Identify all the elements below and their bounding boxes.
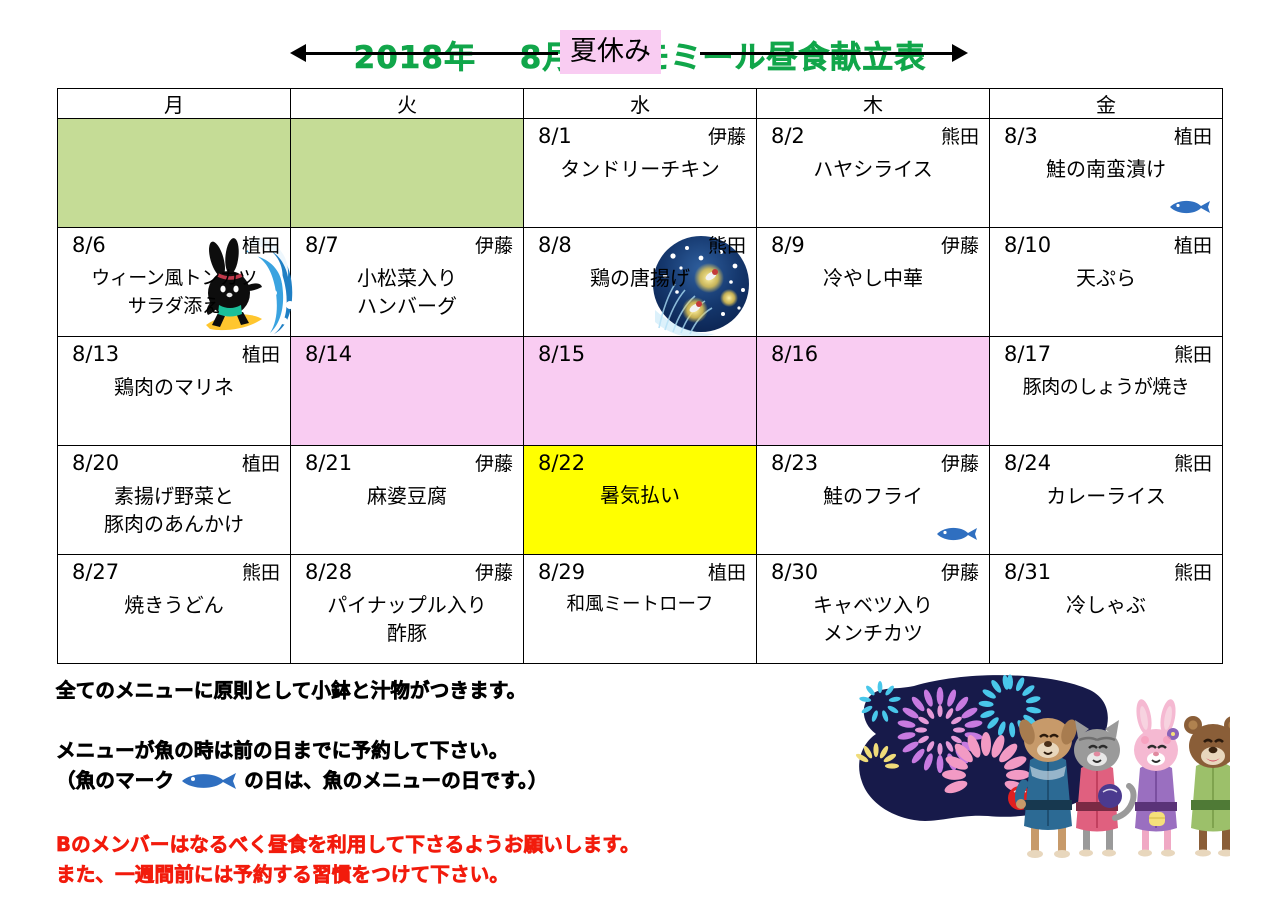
cell-date: 8/14 [305,341,352,367]
menu-cell-8-6: 8/6 植田 ウィーン風トンカツ サラダ添え [58,228,290,336]
menu-cell-8-2: 8/2 熊田 ハヤシライス [757,119,989,227]
calendar-cell: 8/8 熊田 鶏の唐揚げ [524,228,757,337]
note-red-line-1: Bのメンバーはなるべく昼食を利用して下さるようお願いします。 [56,830,816,860]
fireworks-yukata-animals-icon: 祭 [818,668,1230,893]
fish-icon [1168,199,1212,215]
cell-header: 8/10 植田 [996,231,1216,259]
holiday-cell-8-14: 8/14 [291,337,523,445]
cell-cook: 植田 [242,233,280,259]
cell-date: 8/2 [771,123,805,149]
lunch-menu-calendar: 月 火 水 木 金 [57,88,1223,664]
calendar-cell: 8/2 熊田 ハヤシライス [757,119,990,228]
cell-date: 8/31 [1004,559,1051,585]
calendar-cell: 8/1 伊藤 タンドリーチキン [524,119,757,228]
calendar-cell: 8/13 植田 鶏肉のマリネ [58,337,291,446]
cell-menu: 鶏の唐揚げ [530,264,750,292]
cell-menu: 麻婆豆腐 [297,482,517,510]
cell-menu: ハヤシライス [763,155,983,183]
note-line-3-before: （魚のマーク [56,766,174,796]
cell-header: 8/16 [763,340,983,367]
cell-date: 8/28 [305,559,352,585]
cell-date: 8/21 [305,450,352,476]
cell-date: 8/20 [72,450,119,476]
calendar-cell: 8/3 植田 鮭の南蛮漬け [990,119,1223,228]
rabbit-character [1134,698,1179,856]
calendar-cell: 8/24 熊田 カレーライス [990,446,1223,555]
cell-date: 8/29 [538,559,585,585]
note-line-3: （魚のマーク の日は、魚のメニューの日です。） [56,766,816,796]
cell-date: 8/9 [771,232,805,258]
cell-menu: 鶏肉のマリネ [64,373,284,401]
note-line-3-after: の日は、魚のメニューの日です。） [244,766,548,796]
calendar-cell: 8/27 熊田 焼きうどん [58,555,291,664]
menu-cell-8-23: 8/23 伊藤 鮭のフライ [757,446,989,554]
cell-menu: 小松菜入り ハンバーグ [297,264,517,320]
calendar-cell: 8/9 伊藤 冷やし中華 [757,228,990,337]
fish-icon [180,771,238,791]
cell-menu: 暑気払い [530,481,750,509]
menu-cell-8-7: 8/7 伊藤 小松菜入り ハンバーグ [291,228,523,336]
menu-cell-8-24: 8/24 熊田 カレーライス [990,446,1222,554]
cell-cook: 熊田 [1174,560,1212,586]
cell-header: 8/22 [530,449,750,476]
cell-header: 8/1 伊藤 [530,122,750,150]
weekday-header-fri: 金 [990,89,1223,119]
cell-cook: 伊藤 [475,451,513,477]
cell-cook: 伊藤 [941,560,979,586]
cell-header: 8/3 植田 [996,122,1216,150]
cell-menu: 焼きうどん [64,591,284,619]
cell-header: 8/9 伊藤 [763,231,983,259]
cell-date: 8/15 [538,341,585,367]
cell-header: 8/2 熊田 [763,122,983,150]
calendar-cell: 8/30 伊藤 キャベツ入り メンチカツ [757,555,990,664]
menu-cell-8-17: 8/17 熊田 豚肉のしょうが焼き [990,337,1222,445]
calendar-week-row: 8/1 伊藤 タンドリーチキン 8/2 熊田 ハヤシライス [58,119,1223,228]
calendar-cell: 8/7 伊藤 小松菜入り ハンバーグ [291,228,524,337]
calendar-cell: 8/21 伊藤 麻婆豆腐 [291,446,524,555]
menu-cell-8-29: 8/29 植田 和風ミートローフ [524,555,756,663]
cell-menu: パイナップル入り 酢豚 [297,591,517,647]
calendar-cell [58,119,291,228]
cell-date: 8/16 [771,341,818,367]
menu-cell-8-21: 8/21 伊藤 麻婆豆腐 [291,446,523,554]
calendar-cell: 8/23 伊藤 鮭のフライ [757,446,990,555]
lantern-icon [1149,812,1165,826]
menu-cell-8-27: 8/27 熊田 焼きうどん [58,555,290,663]
menu-cell-8-10: 8/10 植田 天ぷら [990,228,1222,336]
cell-cook: 伊藤 [941,451,979,477]
cell-date: 8/8 [538,232,572,258]
cell-cook: 植田 [242,451,280,477]
cell-menu: キャベツ入り メンチカツ [763,591,983,647]
calendar-cell [291,119,524,228]
cell-date: 8/23 [771,450,818,476]
calendar-week-row: 8/13 植田 鶏肉のマリネ 8/14 [58,337,1223,446]
weekday-header-tue: 火 [291,89,524,119]
notes-section: 全てのメニューに原則として小鉢と汁物がつきます。 メニューが魚の時は前の日までに… [56,676,816,890]
menu-cell-8-1: 8/1 伊藤 タンドリーチキン [524,119,756,227]
cell-cook: 熊田 [708,233,746,259]
cell-header: 8/29 植田 [530,558,750,586]
note-red-line-2: また、一週間前には予約する習慣をつけて下さい。 [56,860,816,890]
menu-cell-8-8: 8/8 熊田 鶏の唐揚げ [524,228,756,336]
cell-date: 8/13 [72,341,119,367]
menu-cell-8-3: 8/3 植田 鮭の南蛮漬け [990,119,1222,227]
cell-date: 8/3 [1004,123,1038,149]
cell-header: 8/17 熊田 [996,340,1216,368]
cell-header: 8/13 植田 [64,340,284,368]
menu-cell-8-9: 8/9 伊藤 冷やし中華 [757,228,989,336]
cell-cook: 熊田 [242,560,280,586]
cell-date: 8/17 [1004,341,1051,367]
cell-menu: カレーライス [996,482,1216,510]
cell-header: 8/8 熊田 [530,231,750,259]
page-title: 2018年 8月 カモミール昼食献立表 [0,32,1280,77]
menu-cell-8-13: 8/13 植田 鶏肉のマリネ [58,337,290,445]
cell-cook: 植田 [1174,124,1212,150]
menu-cell-8-31: 8/31 熊田 冷しゃぶ [990,555,1222,663]
cell-date: 8/1 [538,123,572,149]
cell-header: 8/14 [297,340,517,367]
cell-menu: 冷しゃぶ [996,591,1216,619]
cell-date: 8/7 [305,232,339,258]
cell-cook: 植田 [1174,233,1212,259]
cell-menu: 和風ミートローフ [530,591,750,619]
cell-menu: 鮭の南蛮漬け [996,155,1216,183]
cell-cook: 伊藤 [941,233,979,259]
weekday-header-wed: 水 [524,89,757,119]
weekday-header-mon: 月 [58,89,291,119]
cell-date: 8/24 [1004,450,1051,476]
cell-header: 8/31 熊田 [996,558,1216,586]
calendar-cell: 8/10 植田 天ぷら [990,228,1223,337]
calendar-cell: 8/15 [524,337,757,446]
calendar-cell: 8/29 植田 和風ミートローフ [524,555,757,664]
cell-date: 8/22 [538,450,585,476]
menu-cell-8-30: 8/30 伊藤 キャベツ入り メンチカツ [757,555,989,663]
cell-header: 8/21 伊藤 [297,449,517,477]
cell-header: 8/15 [530,340,750,367]
cell-date: 8/10 [1004,232,1051,258]
cell-cook: 熊田 [941,124,979,150]
holiday-cell-8-15: 8/15 [524,337,756,445]
menu-cell-8-28: 8/28 伊藤 パイナップル入り 酢豚 [291,555,523,663]
special-cell-8-22: 8/22 暑気払い [524,446,756,554]
cell-cook: 植田 [708,560,746,586]
cell-menu: 鮭のフライ [763,482,983,510]
cell-header: 8/20 植田 [64,449,284,477]
cell-date: 8/27 [72,559,119,585]
illustration-cell-firefly-night [291,119,523,227]
cat-character [1074,720,1134,857]
cell-cook: 伊藤 [708,124,746,150]
cell-cook: 伊藤 [475,560,513,586]
cell-menu: タンドリーチキン [530,155,750,183]
cell-menu: 冷やし中華 [763,264,983,292]
calendar-cell: 8/17 熊田 豚肉のしょうが焼き [990,337,1223,446]
bear-character [1184,716,1230,857]
cell-header: 8/23 伊藤 [763,449,983,477]
illustration-cell-surfing-rabbit [58,119,290,227]
menu-calendar-page: 2018年 8月 カモミール昼食献立表 月 火 水 木 金 [0,0,1280,905]
cell-header: 8/30 伊藤 [763,558,983,586]
cell-header: 8/24 熊田 [996,449,1216,477]
cell-menu: ウィーン風トンカツ サラダ添え [64,264,284,320]
cell-header: 8/27 熊田 [64,558,284,586]
calendar-cell: 8/28 伊藤 パイナップル入り 酢豚 [291,555,524,664]
cell-cook: 伊藤 [475,233,513,259]
note-line-2: メニューが魚の時は前の日までに予約して下さい。 [56,736,816,766]
calendar-cell: 8/16 [757,337,990,446]
cell-header: 8/28 伊藤 [297,558,517,586]
calendar-cell: 8/22 暑気払い [524,446,757,555]
cell-menu: 天ぷら [996,264,1216,292]
holiday-cell-8-16: 8/16 [757,337,989,445]
calendar-cell: 8/14 [291,337,524,446]
cell-date: 8/30 [771,559,818,585]
cell-header: 8/7 伊藤 [297,231,517,259]
calendar-week-row: 8/20 植田 素揚げ野菜と 豚肉のあんかけ 8/21 伊藤 麻婆豆腐 [58,446,1223,555]
fish-icon [935,526,979,542]
calendar-cell: 8/31 熊田 冷しゃぶ [990,555,1223,664]
cell-cook: 植田 [242,342,280,368]
notes-red-section: Bのメンバーはなるべく昼食を利用して下さるようお願いします。 また、一週間前には… [56,830,816,890]
cell-menu: 素揚げ野菜と 豚肉のあんかけ [64,482,284,538]
calendar-week-row: 8/6 植田 ウィーン風トンカツ サラダ添え 8/7 伊藤 小松菜入り ハンバー… [58,228,1223,337]
calendar-cell: 8/6 植田 ウィーン風トンカツ サラダ添え [58,228,291,337]
calendar-cell: 8/20 植田 素揚げ野菜と 豚肉のあんかけ [58,446,291,555]
cell-header: 8/6 植田 [64,231,284,259]
menu-cell-8-20: 8/20 植田 素揚げ野菜と 豚肉のあんかけ [58,446,290,554]
cell-cook: 熊田 [1174,451,1212,477]
weekday-header-thu: 木 [757,89,990,119]
cell-date: 8/6 [72,232,106,258]
calendar-week-row: 8/27 熊田 焼きうどん 8/28 伊藤 パイナップル入り 酢豚 [58,555,1223,664]
note-line-1: 全てのメニューに原則として小鉢と汁物がつきます。 [56,676,816,706]
cell-menu: 豚肉のしょうが焼き [996,373,1216,401]
cell-cook: 熊田 [1174,342,1212,368]
weekday-header-row: 月 火 水 木 金 [58,89,1223,119]
